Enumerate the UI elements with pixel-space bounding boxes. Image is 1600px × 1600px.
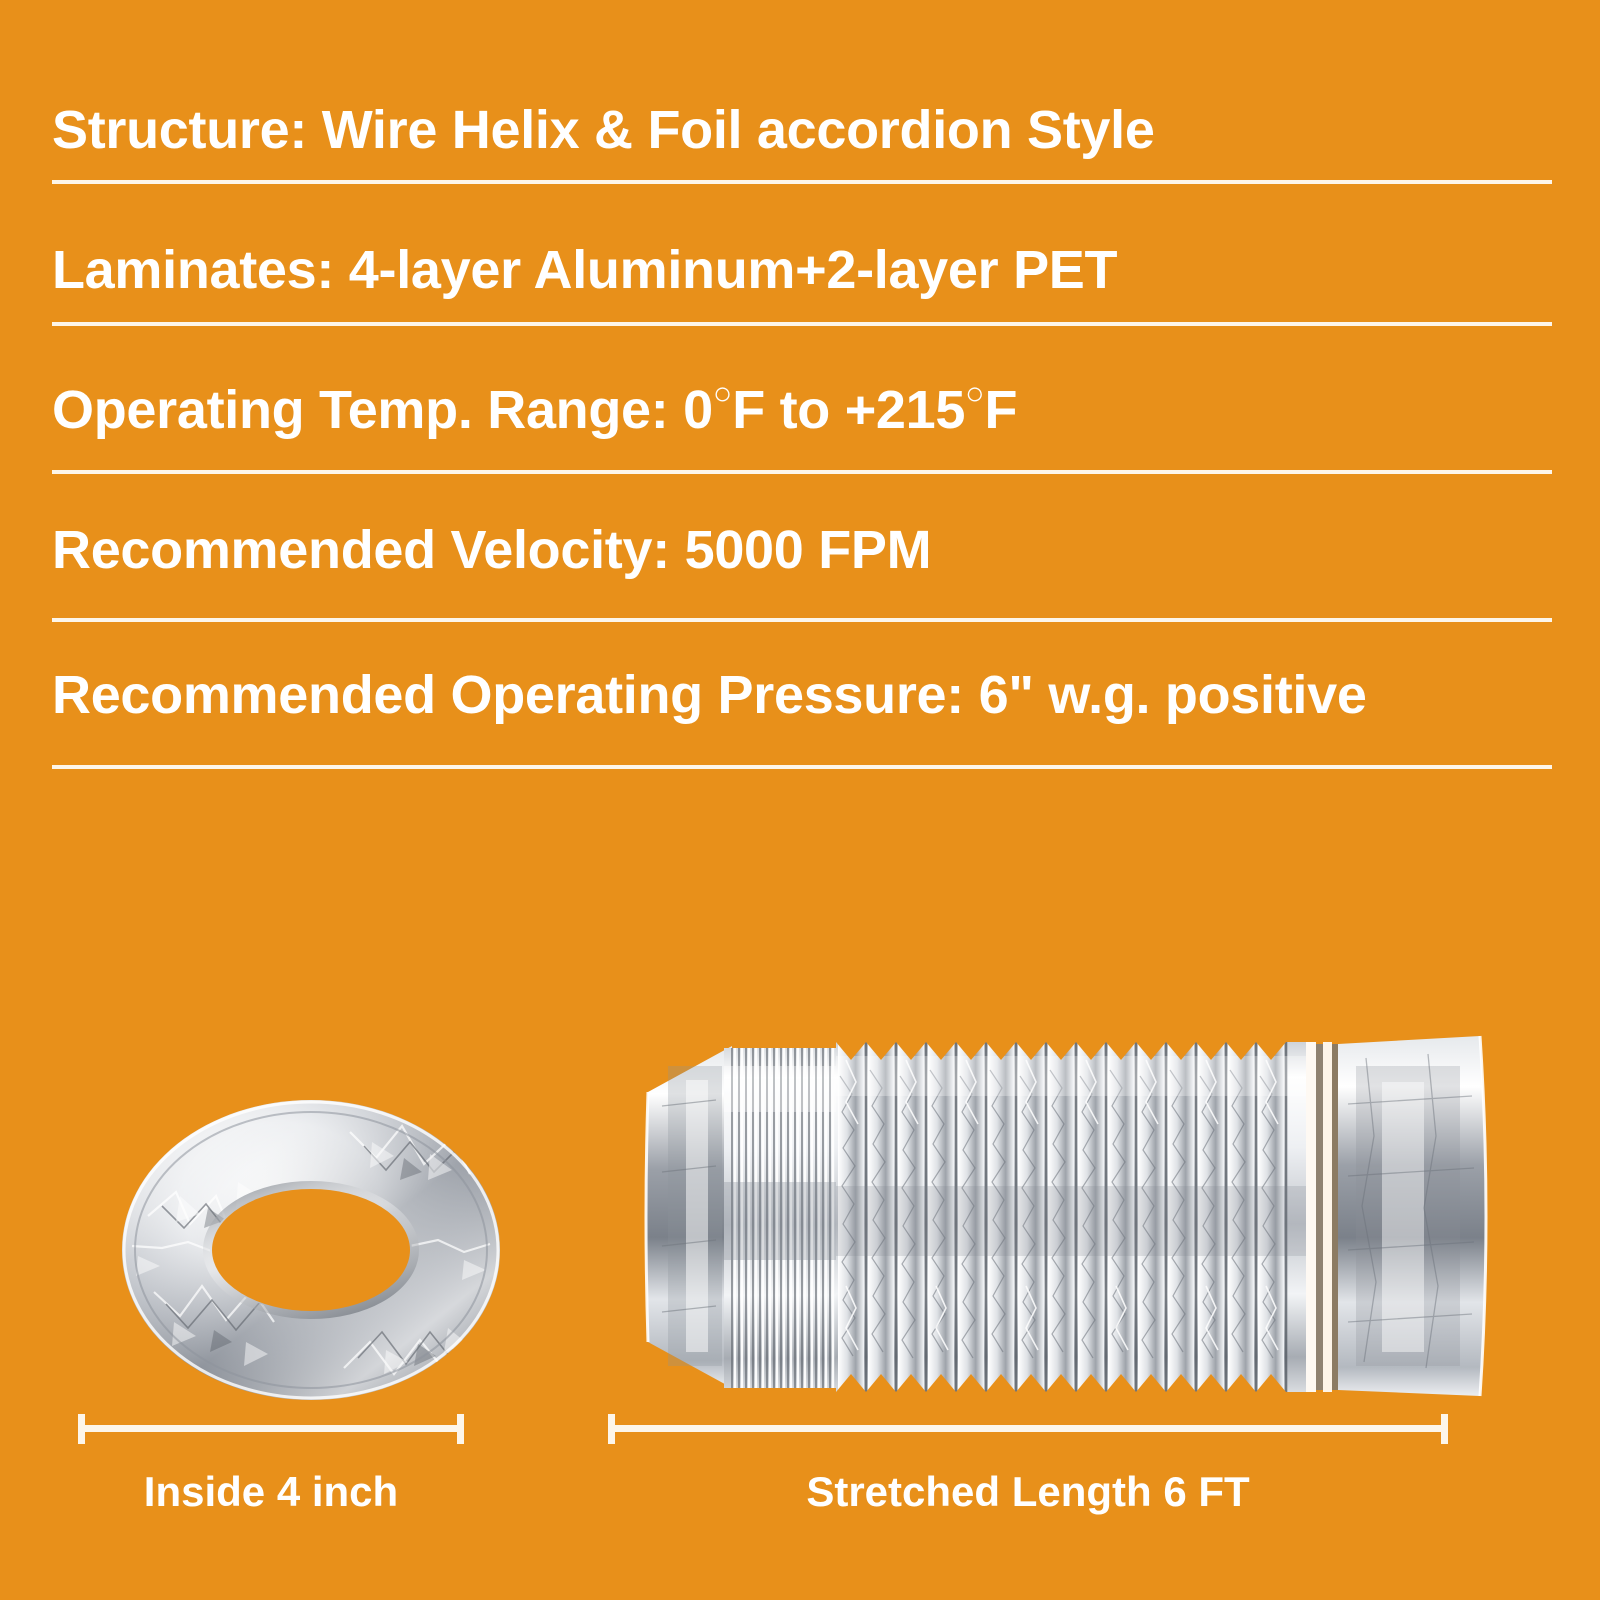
dim-tick-right bbox=[1441, 1414, 1448, 1444]
spec-row-pressure: Recommended Operating Pressure: 6" w.g. … bbox=[52, 645, 1552, 745]
spec-divider-1 bbox=[52, 180, 1552, 184]
dim-tick-left bbox=[608, 1414, 615, 1444]
spec-temp-middle: F to +215 bbox=[732, 380, 965, 440]
specifications-list: Structure: Wire Helix & Foil accordion S… bbox=[0, 0, 1600, 790]
inside-diameter-dimension-line bbox=[78, 1425, 464, 1432]
dim-tick-right bbox=[457, 1414, 464, 1444]
stretched-length-caption: Stretched Length 6 FT bbox=[608, 1468, 1448, 1516]
degree-icon-low: ○ bbox=[713, 375, 732, 411]
spec-label-structure: Structure: Wire Helix & Foil accordion S… bbox=[52, 102, 1155, 159]
spec-temp-prefix: Operating Temp. Range: 0 bbox=[52, 380, 713, 440]
duct-cross-section-figure bbox=[118, 1096, 504, 1404]
duct-hose-image bbox=[640, 996, 1500, 1406]
duct-cross-section-image bbox=[118, 1096, 504, 1404]
spec-divider-2 bbox=[52, 322, 1552, 326]
degree-icon-high: ○ bbox=[965, 375, 984, 411]
hose-left-cuff bbox=[646, 1046, 732, 1388]
spec-label-velocity: Recommended Velocity: 5000 FPM bbox=[52, 522, 931, 579]
spec-divider-5 bbox=[52, 765, 1552, 769]
spec-label-laminates: Laminates: 4-layer Aluminum+2-layer PET bbox=[52, 242, 1117, 299]
dim-tick-left bbox=[78, 1414, 85, 1444]
hose-coil-section bbox=[724, 1042, 840, 1394]
spec-row-structure: Structure: Wire Helix & Foil accordion S… bbox=[52, 80, 1552, 180]
spec-label-operating-temp: Operating Temp. Range: 0○F to +215○F bbox=[52, 382, 1017, 439]
spec-divider-3 bbox=[52, 470, 1552, 474]
spec-row-velocity: Recommended Velocity: 5000 FPM bbox=[52, 500, 1552, 600]
spec-label-pressure: Recommended Operating Pressure: 6" w.g. … bbox=[52, 667, 1367, 724]
product-imagery bbox=[0, 900, 1600, 1460]
spec-divider-4 bbox=[52, 618, 1552, 622]
spec-row-laminates: Laminates: 4-layer Aluminum+2-layer PET bbox=[52, 220, 1552, 320]
stretched-length-dimension-line bbox=[608, 1425, 1448, 1432]
hose-right-cuff bbox=[1306, 1036, 1486, 1396]
hose-accordion-section bbox=[836, 1042, 1306, 1392]
duct-hose-figure bbox=[640, 996, 1500, 1406]
inside-diameter-caption: Inside 4 inch bbox=[78, 1468, 464, 1516]
spec-row-operating-temp: Operating Temp. Range: 0○F to +215○F bbox=[52, 360, 1552, 460]
spec-temp-suffix: F bbox=[984, 380, 1017, 440]
